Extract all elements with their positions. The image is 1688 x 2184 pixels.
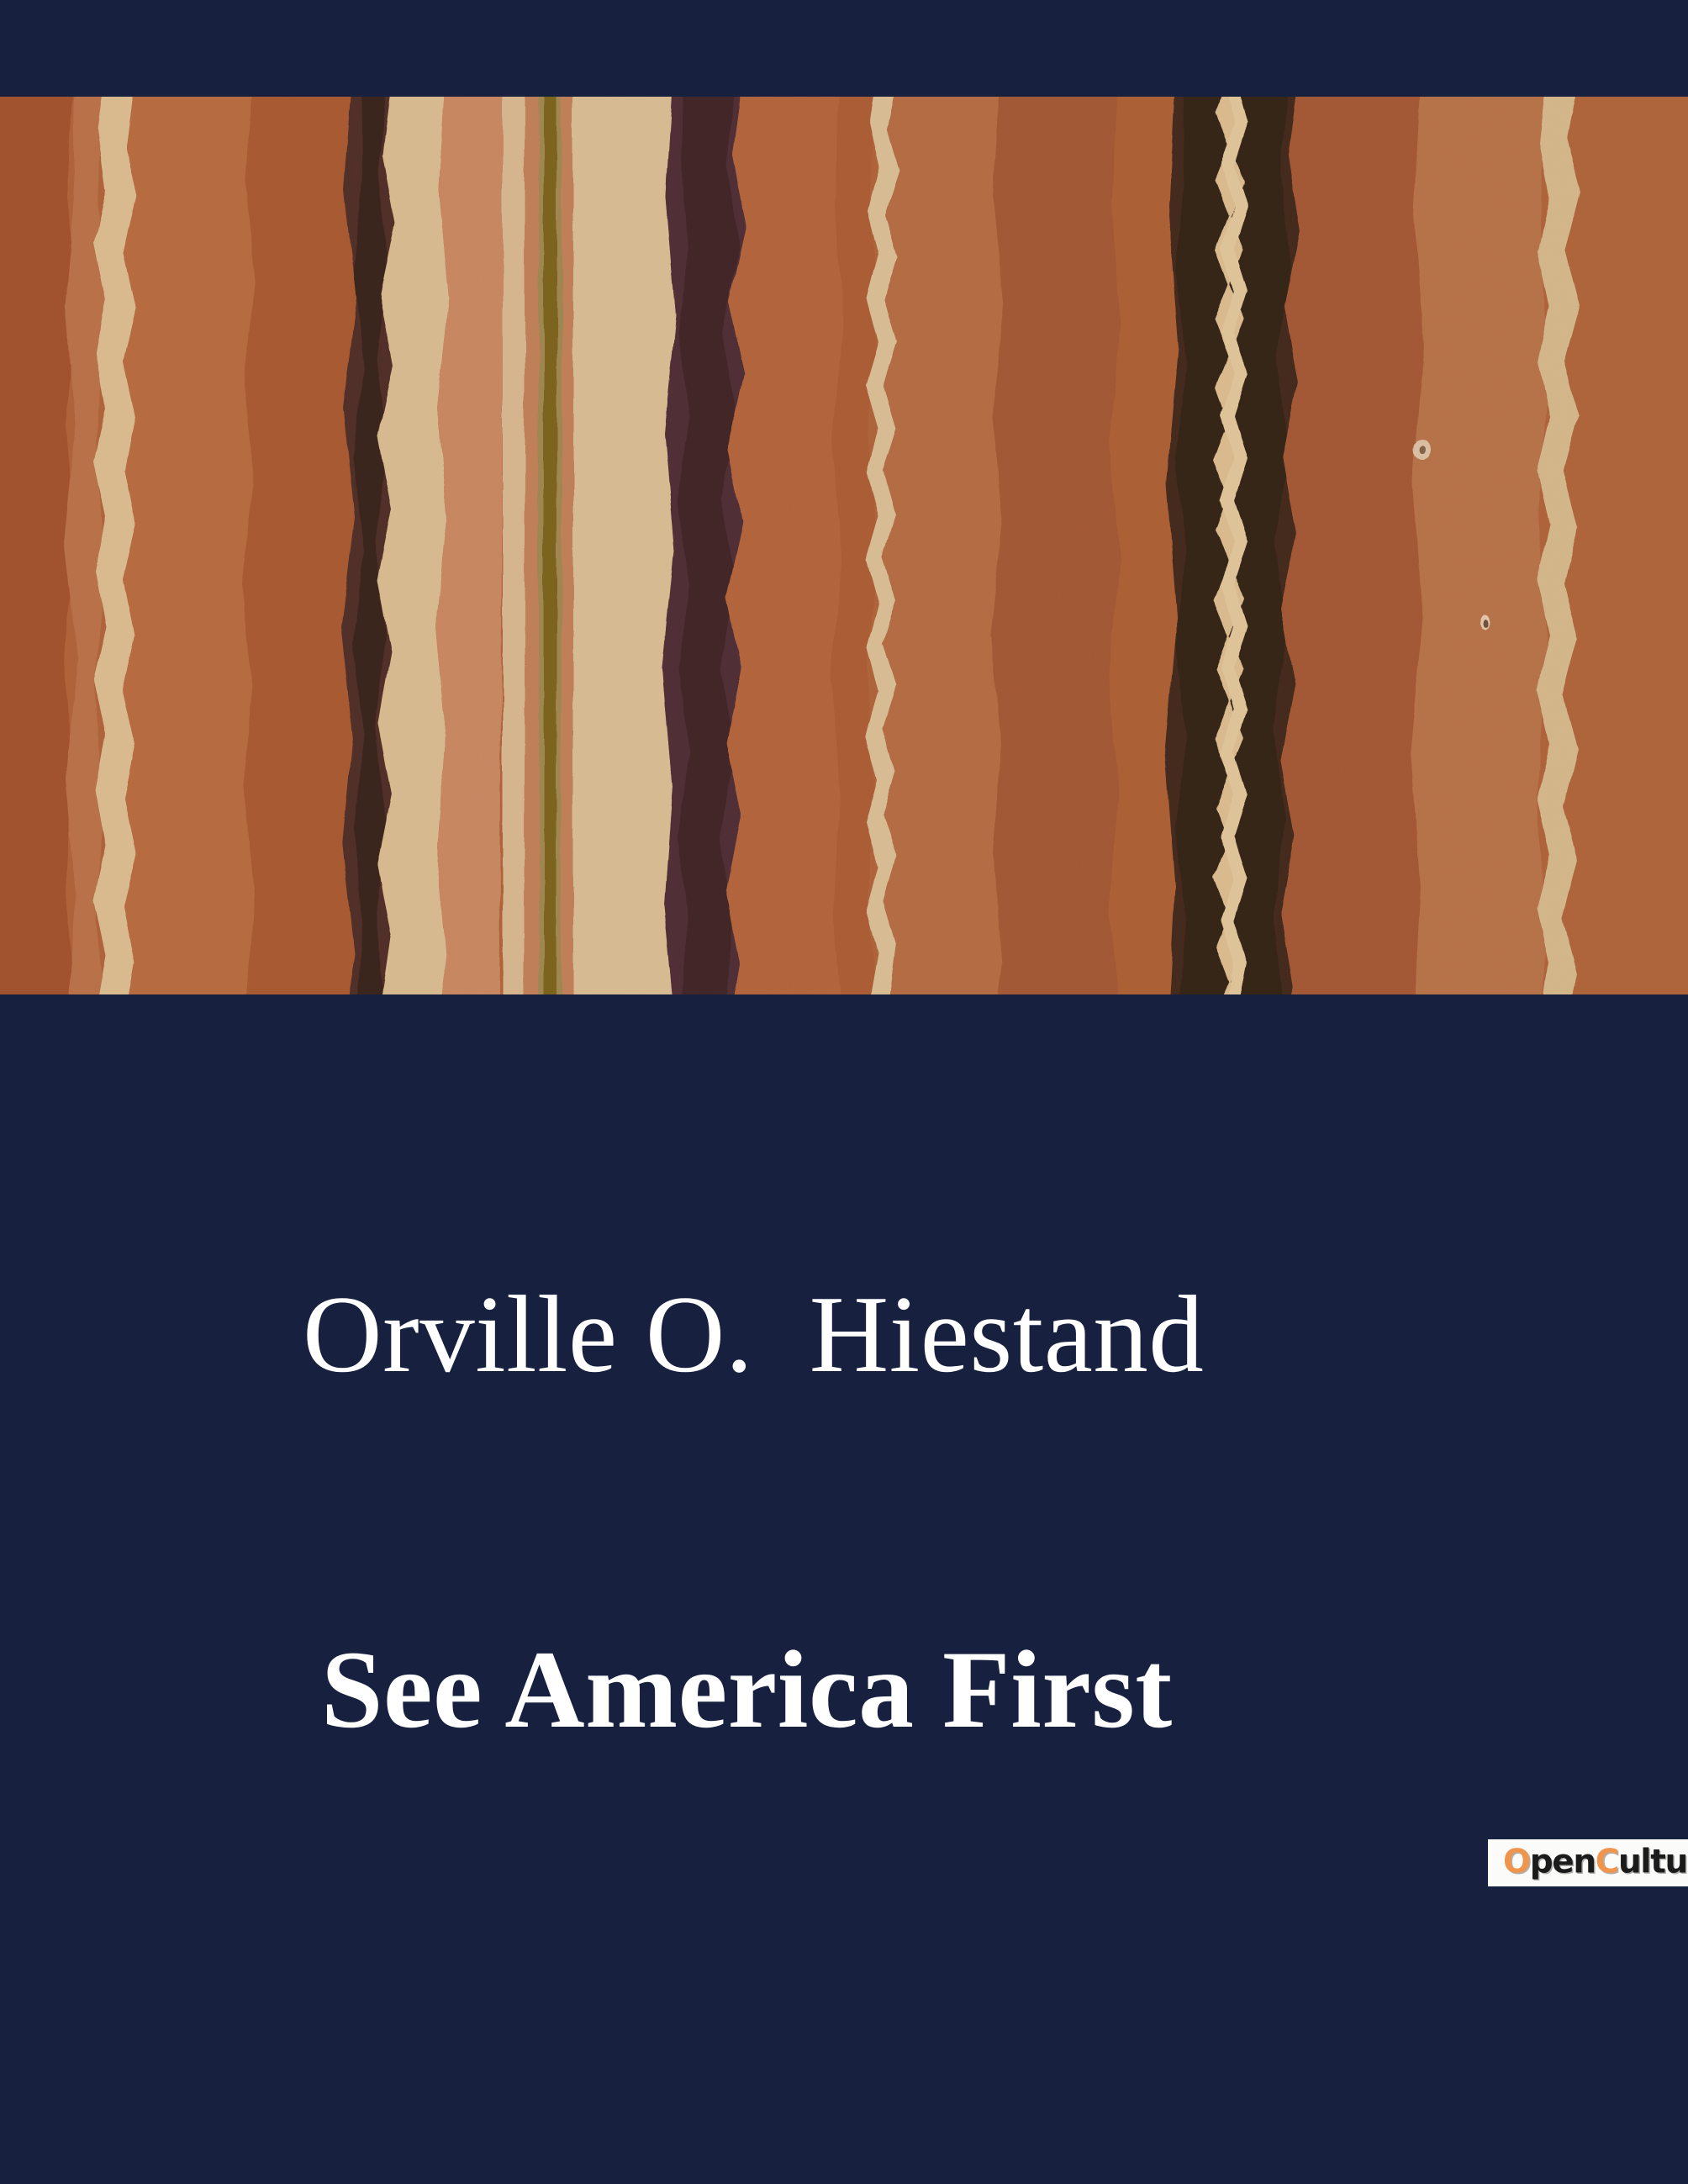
logo-letter-c: C [1596, 1844, 1618, 1881]
logo-text-ulture: ulture [1618, 1844, 1688, 1881]
publisher-logo[interactable]: OpenCulture [1488, 1839, 1688, 1886]
artwork-stripes-svg [0, 97, 1688, 994]
book-cover: Orville O. Hiestand See America First Op… [0, 0, 1688, 2184]
cover-artwork-image [0, 97, 1688, 994]
logo-letter-o: O [1503, 1844, 1530, 1881]
publisher-logo-text: OpenCulture [1503, 1846, 1688, 1879]
author-name: Orville O. Hiestand [303, 1279, 1204, 1390]
book-title: See America First [321, 1634, 1173, 1745]
logo-text-pen: pen [1530, 1844, 1596, 1881]
